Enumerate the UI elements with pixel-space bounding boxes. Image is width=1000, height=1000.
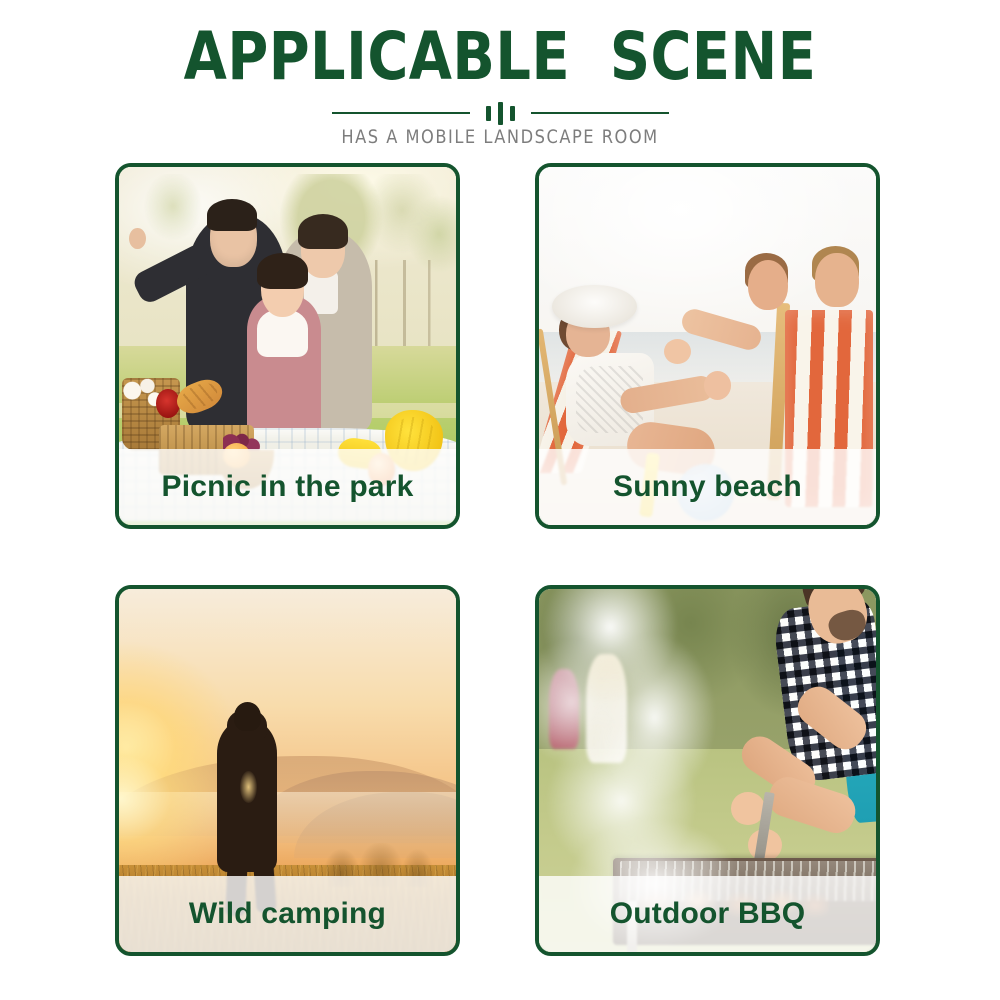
sun-hat [552, 285, 636, 328]
scene-card-outdoor-bbq[interactable]: Outdoor BBQ [535, 585, 880, 956]
divider-bar-tall-center [498, 102, 503, 125]
scene-card-label: Wild camping [189, 897, 386, 931]
divider-line-right [531, 112, 669, 114]
applicable-scene-page: APPLICABLE SCENE HAS A MOBILE LANDSCAPE … [0, 0, 1000, 1000]
scene-card-label: Picnic in the park [161, 470, 413, 504]
child-head [748, 260, 788, 310]
scene-card-label: Sunny beach [613, 470, 802, 504]
title-divider [0, 100, 1000, 126]
mother-hand [704, 371, 731, 400]
daughter-shirt [257, 310, 308, 357]
child-hand [664, 339, 691, 364]
scene-card-picnic-in-the-park[interactable]: Picnic in the park [115, 163, 460, 529]
hiker-head [234, 702, 261, 731]
scene-label-band: Sunny beach [539, 449, 876, 525]
divider-bar-short-left [486, 106, 491, 121]
scene-label-band: Outdoor BBQ [539, 876, 876, 952]
page-title: APPLICABLE SCENE [30, 22, 970, 92]
divider-line-left [332, 112, 470, 114]
father-hand [129, 228, 146, 249]
daughter-hair [257, 253, 308, 289]
scene-label-band: Wild camping [119, 876, 456, 952]
scene-card-sunny-beach[interactable]: Sunny beach [535, 163, 880, 529]
header: APPLICABLE SCENE HAS A MOBILE LANDSCAPE … [0, 0, 1000, 160]
scene-card-label: Outdoor BBQ [610, 897, 806, 931]
father-head-beach [815, 253, 859, 307]
father-hair [207, 199, 258, 231]
divider-bar-short-right [510, 106, 515, 121]
scene-card-wild-camping[interactable]: Wild camping [115, 585, 460, 956]
mother-hair [298, 214, 349, 250]
scene-card-grid: Picnic in the park [115, 163, 893, 961]
divider-bars-icon [486, 100, 515, 126]
scene-label-band: Picnic in the park [119, 449, 456, 525]
page-subtitle: HAS A MOBILE LANDSCAPE ROOM [25, 126, 975, 148]
